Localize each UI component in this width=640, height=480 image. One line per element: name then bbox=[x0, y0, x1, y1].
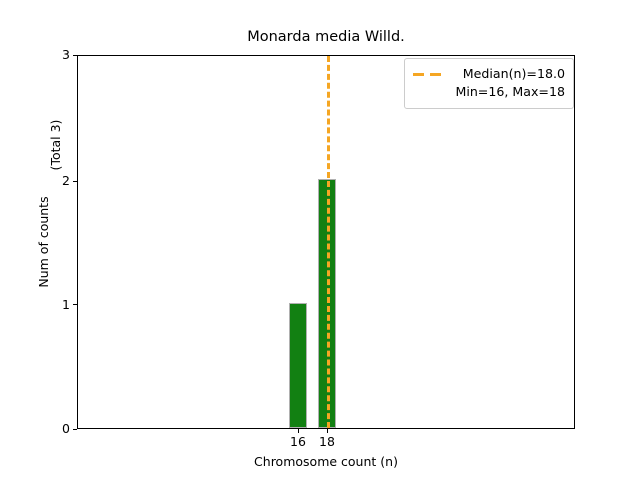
bar-16 bbox=[289, 303, 307, 428]
ytick-label-3: 3 bbox=[58, 48, 70, 61]
chart-legend: Median(n)=18.0 Min=16, Max=18 bbox=[404, 58, 574, 109]
x-axis-label: Chromosome count (n) bbox=[77, 455, 575, 469]
ytick-label-1: 1 bbox=[58, 298, 70, 311]
xtick-label-18: 18 bbox=[307, 435, 347, 449]
legend-median-label: Median(n)=18.0 bbox=[455, 65, 565, 83]
legend-text-block: Median(n)=18.0 Min=16, Max=18 bbox=[455, 65, 565, 101]
chart-figure: Monarda media Willd. 3 2 1 0 Num of coun… bbox=[0, 0, 640, 480]
xtick-mark-18 bbox=[327, 429, 328, 433]
plot-area bbox=[77, 55, 575, 429]
median-line bbox=[327, 56, 330, 428]
legend-range-label: Min=16, Max=18 bbox=[455, 83, 565, 101]
y-axis-label-sub: (Total 3) bbox=[49, 65, 63, 225]
chart-title: Monarda media Willd. bbox=[77, 28, 575, 46]
xtick-mark-16 bbox=[298, 429, 299, 433]
orange-dashed-line-icon bbox=[413, 68, 447, 82]
ytick-label-0: 0 bbox=[58, 422, 70, 435]
